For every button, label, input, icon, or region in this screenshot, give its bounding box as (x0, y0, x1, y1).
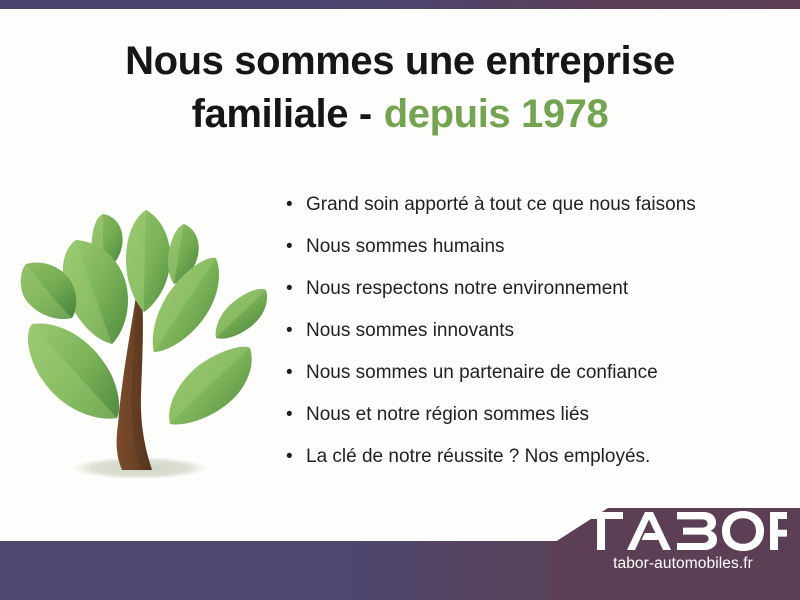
title-line-1: Nous sommes une entreprise (0, 36, 800, 87)
list-item-label: Nous sommes innovants (306, 318, 514, 344)
title-line-2: familiale -depuis 1978 (0, 89, 800, 140)
list-item-label: Nous et notre région sommes liés (306, 402, 589, 428)
tabor-wordmark (579, 510, 787, 552)
list-item: • Nous respectons notre environnement (286, 276, 766, 318)
page-title: Nous sommes une entreprise familiale -de… (0, 36, 800, 140)
bullet-marker-icon: • (286, 444, 306, 470)
list-item: • Nous sommes innovants (286, 318, 766, 360)
list-item: • La clé de notre réussite ? Nos employé… (286, 444, 766, 486)
bullet-marker-icon: • (286, 360, 306, 386)
bullet-marker-icon: • (286, 192, 306, 218)
tree-leaf-group (21, 210, 267, 424)
brand-logo[interactable]: tabor-automobiles.fr (552, 508, 800, 600)
bullet-marker-icon: • (286, 402, 306, 428)
bullet-marker-icon: • (286, 276, 306, 302)
list-item-label: Nous respectons notre environnement (306, 276, 628, 302)
list-item: • Nous sommes un partenaire de confiance (286, 360, 766, 402)
list-item-label: La clé de notre réussite ? Nos employés. (306, 444, 650, 470)
list-item-label: Grand soin apporté à tout ce que nous fa… (306, 192, 696, 218)
slide-canvas: Nous sommes une entreprise familiale -de… (0, 0, 800, 600)
list-item: • Nous et notre région sommes liés (286, 402, 766, 444)
list-item-label: Nous sommes un partenaire de confiance (306, 360, 658, 386)
top-accent-bar (0, 0, 800, 9)
list-item: • Nous sommes humains (286, 234, 766, 276)
value-bullet-list: • Grand soin apporté à tout ce que nous … (286, 192, 766, 486)
bullet-marker-icon: • (286, 234, 306, 260)
list-item-label: Nous sommes humains (306, 234, 505, 260)
title-line-2-plain: familiale - (192, 92, 372, 136)
bullet-marker-icon: • (286, 318, 306, 344)
list-item: • Grand soin apporté à tout ce que nous … (286, 192, 766, 234)
tree-illustration (18, 196, 274, 492)
title-line-2-accent: depuis 1978 (384, 92, 609, 136)
logo-domain-label: tabor-automobiles.fr (613, 555, 753, 573)
